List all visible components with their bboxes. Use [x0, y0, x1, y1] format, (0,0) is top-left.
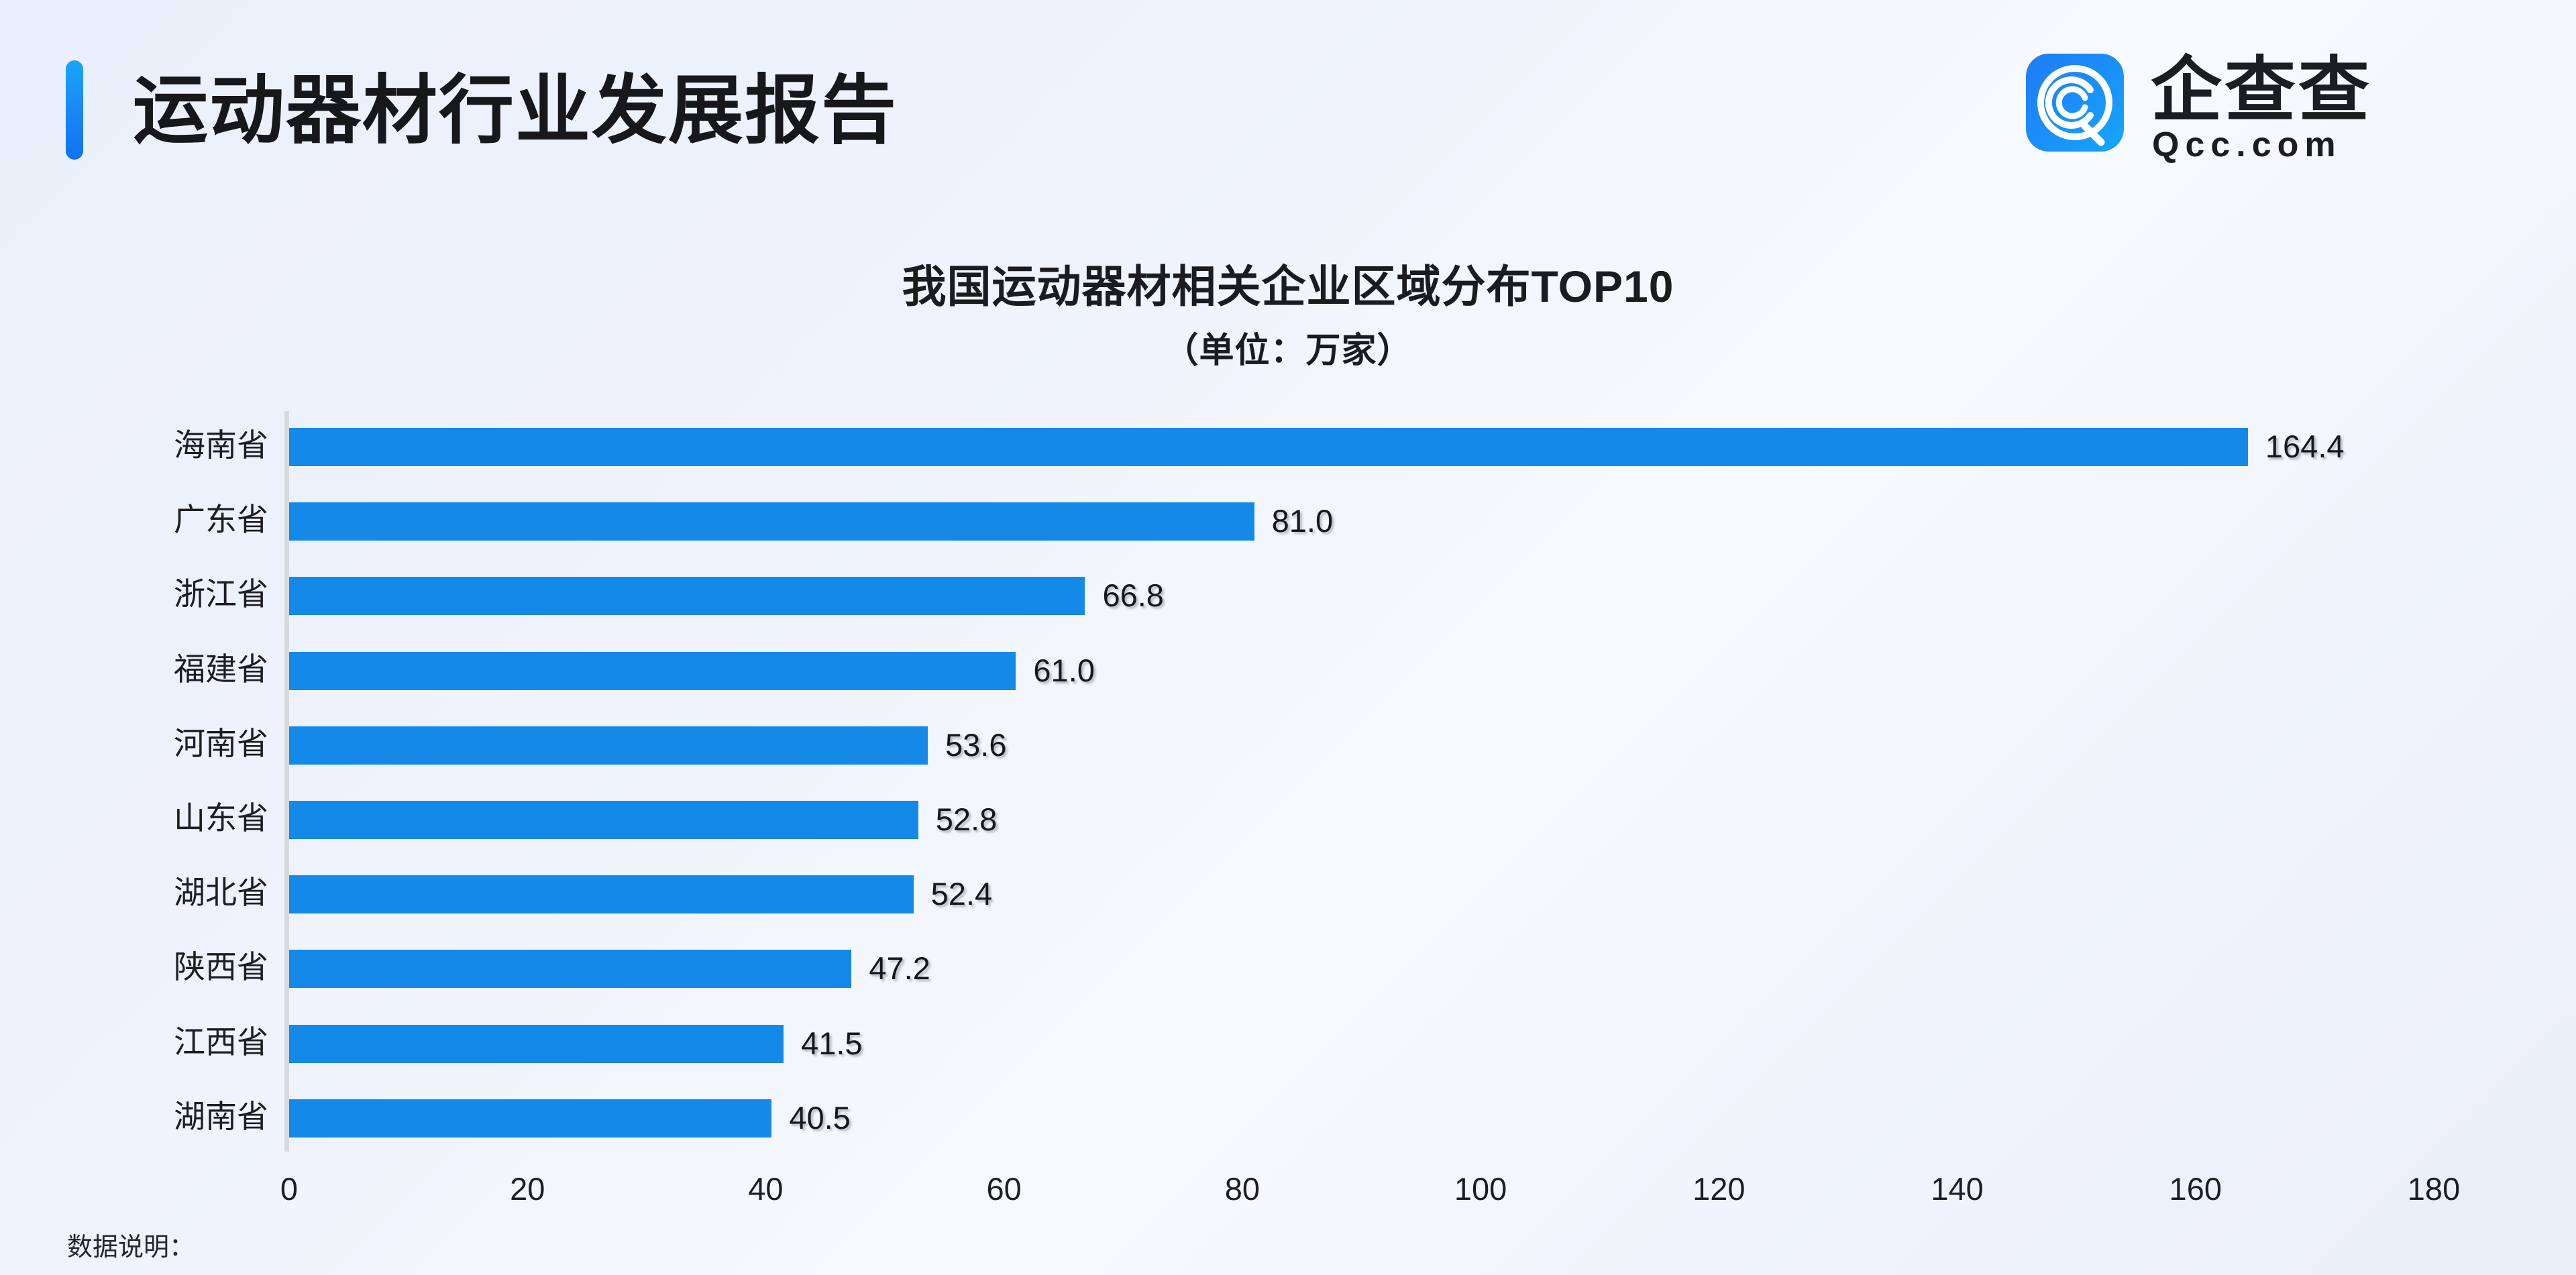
bar-value-label: 52.8: [936, 800, 997, 838]
x-axis-tick-label: 140: [1931, 1170, 1983, 1208]
bar-value-label: 41.5: [801, 1024, 862, 1062]
bar-value-label: 52.4: [931, 875, 992, 913]
x-axis-tick-label: 20: [510, 1170, 545, 1208]
x-axis-tick-label: 40: [748, 1170, 783, 1208]
bar[interactable]: [289, 502, 1254, 541]
y-axis-line: [284, 411, 289, 1152]
category-label: 陕西省: [174, 948, 268, 987]
x-axis-tick-label: 160: [2169, 1170, 2222, 1208]
category-label: 山东省: [174, 799, 268, 838]
category-label: 河南省: [174, 724, 268, 763]
bar-chart: 海南省164.4广东省81.0浙江省66.8福建省61.0河南省53.6山东省5…: [0, 0, 2576, 1275]
category-label: 湖南省: [174, 1097, 268, 1136]
data-note: 数据说明：: [67, 1231, 195, 1264]
x-axis-tick-label: 80: [1225, 1170, 1260, 1208]
category-label: 湖北省: [174, 873, 268, 912]
category-label: 海南省: [174, 426, 268, 465]
x-axis-tick-label: 120: [1693, 1170, 1745, 1208]
category-label: 福建省: [174, 650, 268, 689]
bar-value-label: 81.0: [1272, 502, 1333, 540]
bar[interactable]: [289, 428, 2248, 466]
bar-value-label: 164.4: [2265, 427, 2345, 465]
bar[interactable]: [289, 577, 1085, 615]
bar[interactable]: [289, 875, 914, 913]
bar[interactable]: [289, 950, 851, 988]
bar-value-label: 47.2: [869, 949, 930, 987]
bar-value-label: 40.5: [789, 1099, 850, 1137]
bar[interactable]: [289, 726, 928, 765]
bar[interactable]: [289, 1099, 771, 1138]
x-axis-tick-label: 60: [987, 1170, 1022, 1208]
bar-value-label: 61.0: [1033, 651, 1094, 689]
x-axis-tick-label: 0: [280, 1170, 298, 1208]
category-label: 浙江省: [174, 575, 268, 614]
category-label: 江西省: [174, 1023, 268, 1062]
bar-value-label: 53.6: [945, 726, 1006, 764]
bar[interactable]: [289, 801, 918, 839]
bar-value-label: 66.8: [1102, 576, 1163, 614]
bar[interactable]: [289, 1025, 784, 1063]
bar[interactable]: [289, 652, 1016, 690]
x-axis-tick-label: 180: [2408, 1170, 2460, 1208]
category-label: 广东省: [174, 500, 268, 539]
x-axis-tick-label: 100: [1454, 1170, 1507, 1208]
